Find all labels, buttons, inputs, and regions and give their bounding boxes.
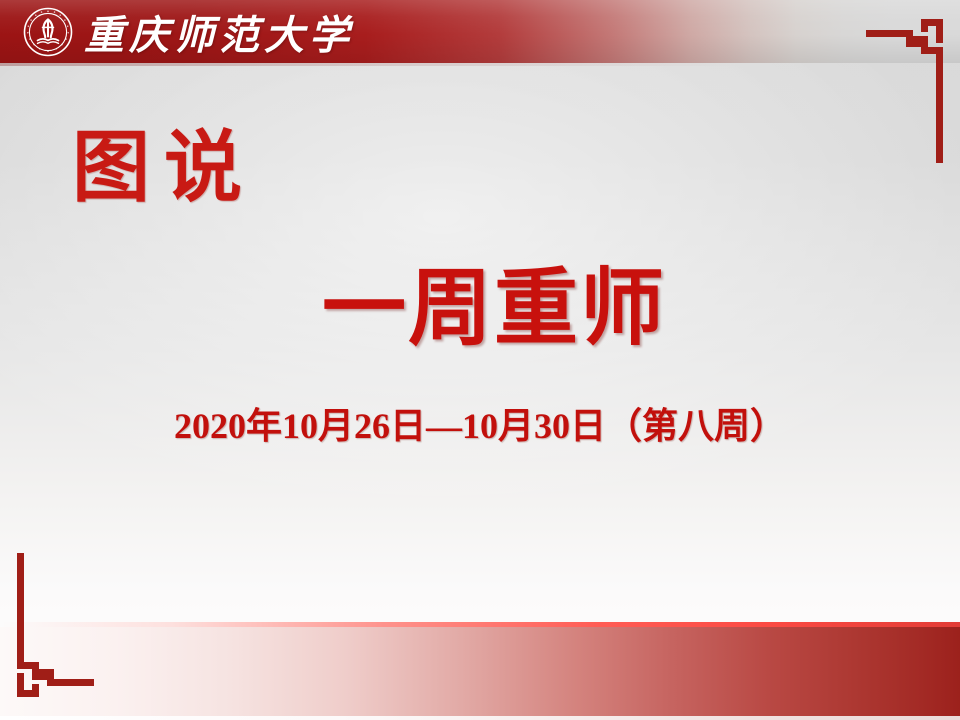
footer-gradient-band bbox=[0, 622, 960, 720]
presentation-slide: 重庆师范大学 bbox=[0, 0, 960, 720]
university-seal-icon bbox=[23, 7, 73, 57]
page-title: 一周重师 bbox=[322, 268, 666, 352]
chinese-corner-ornament-icon-top-right bbox=[866, 8, 946, 163]
school-name-calligraphy: 重庆师范大学 bbox=[84, 3, 354, 61]
footer-baseline bbox=[0, 716, 960, 720]
chinese-corner-ornament-icon-bottom-left bbox=[14, 553, 94, 708]
footer-gradient-fill bbox=[0, 627, 960, 720]
date-range-subtitle: 2020年10月26日—10月30日（第八周） bbox=[0, 406, 960, 447]
seal-title: 图说 bbox=[72, 129, 256, 207]
header-banner-shadow bbox=[0, 63, 740, 66]
